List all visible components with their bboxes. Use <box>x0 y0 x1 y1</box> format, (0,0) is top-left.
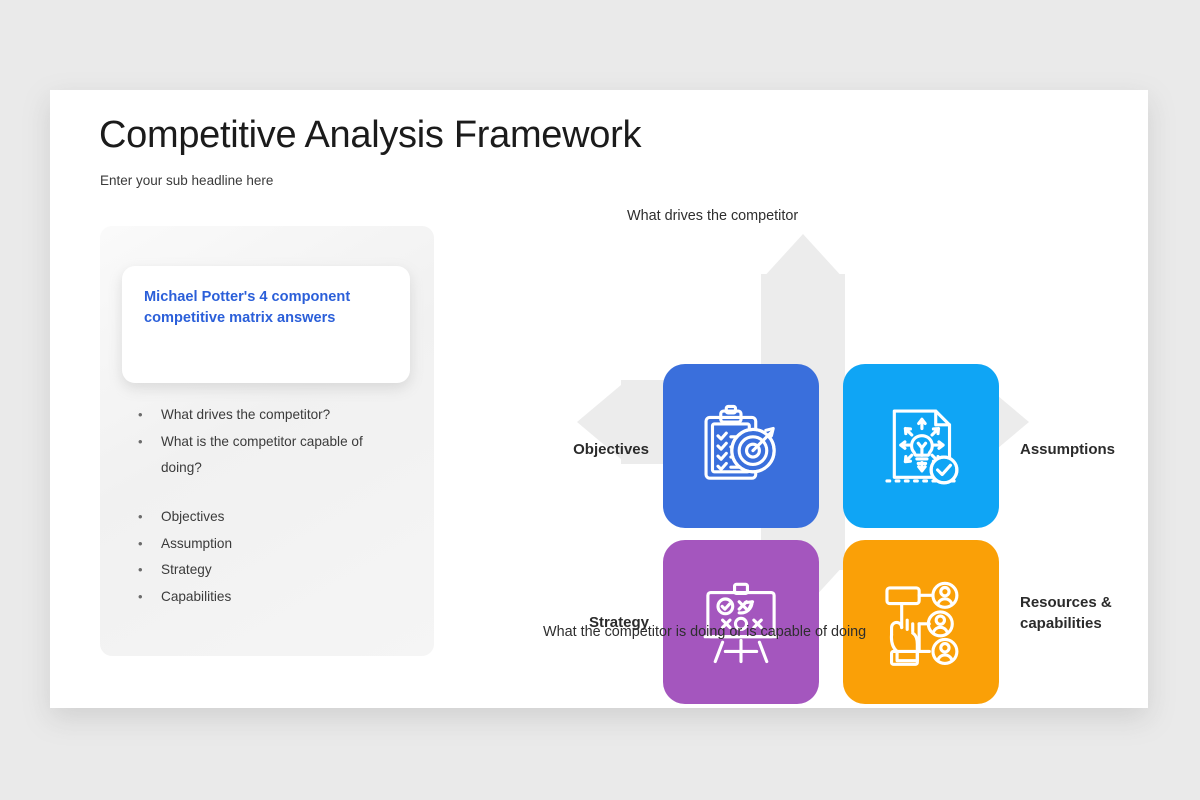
matrix-caption-bottom: What the competitor is doing or is capab… <box>543 624 866 640</box>
hand-org-chart-icon <box>875 576 967 668</box>
quadrant-assumptions[interactable] <box>843 364 999 528</box>
quadrant-strategy[interactable] <box>663 540 819 704</box>
clipboard-target-icon <box>695 400 787 492</box>
page-title: Competitive Analysis Framework <box>99 114 641 157</box>
list-item: Assumption <box>136 531 398 558</box>
bullet-group-questions: What drives the competitor? What is the … <box>136 402 398 482</box>
callout-card[interactable]: Michael Potter's 4 component competitive… <box>122 266 410 383</box>
label-assumptions: Assumptions <box>1020 440 1160 461</box>
quadrant-grid <box>663 364 999 704</box>
easel-tactics-icon <box>695 576 787 668</box>
document-lightbulb-icon <box>875 400 967 492</box>
list-item: Capabilities <box>136 584 398 611</box>
label-objectives: Objectives <box>565 440 649 461</box>
slide-canvas: Competitive Analysis Framework Enter you… <box>0 0 1200 800</box>
list-item: Strategy <box>136 557 398 584</box>
slide-surface: Competitive Analysis Framework Enter you… <box>50 90 1148 708</box>
list-item: What is the competitor capable of doing? <box>136 429 398 482</box>
quadrant-resources[interactable] <box>843 540 999 704</box>
quadrant-objectives[interactable] <box>663 364 819 528</box>
list-item: Objectives <box>136 504 398 531</box>
matrix-caption-top: What drives the competitor <box>627 208 798 224</box>
list-item: What drives the competitor? <box>136 402 398 429</box>
callout-text: Michael Potter's 4 component competitive… <box>144 287 359 329</box>
left-info-panel: Michael Potter's 4 component competitive… <box>100 226 434 656</box>
label-resources: Resources & capabilities <box>1020 593 1150 634</box>
bullet-group-components: Objectives Assumption Strategy Capabilit… <box>136 504 398 610</box>
page-subtitle: Enter your sub headline here <box>100 173 273 188</box>
competitive-matrix: What drives the competitor <box>515 208 1115 670</box>
